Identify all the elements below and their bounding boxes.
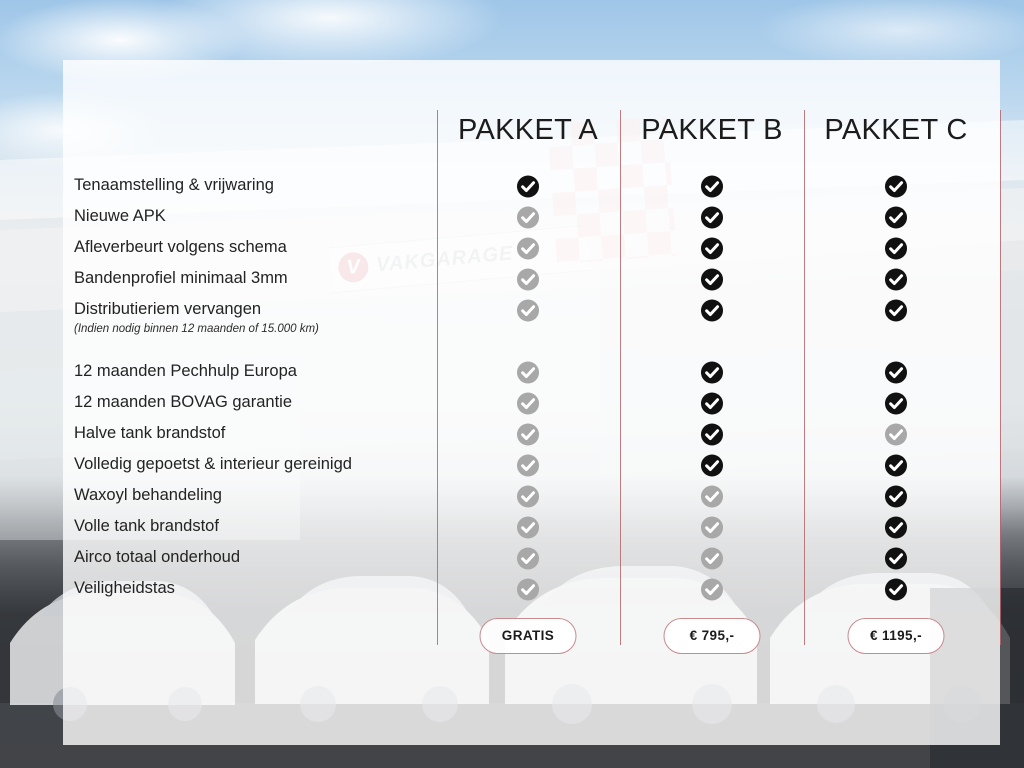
check-active-c	[885, 454, 908, 477]
feature-label-text: Veiligheidstas	[74, 579, 175, 597]
feature-label-text: Bandenprofiel minimaal 3mm	[74, 269, 288, 287]
check-inactive-a	[517, 361, 540, 384]
check-inactive-c	[885, 423, 908, 446]
check-active-c	[885, 361, 908, 384]
feature-label: Halve tank brandstof	[74, 425, 225, 442]
check-active-c	[885, 516, 908, 539]
check-active-c	[885, 175, 908, 198]
feature-label: Nieuwe APK	[74, 208, 166, 225]
column-header-a: PAKKET A	[458, 114, 598, 147]
feature-label-text: Volle tank brandstof	[74, 517, 219, 535]
column-divider-4	[1000, 110, 1001, 645]
column-divider-3	[804, 110, 805, 645]
column-divider-1	[437, 110, 438, 645]
check-inactive-b	[701, 485, 724, 508]
feature-label: Volledig gepoetst & interieur gereinigd	[74, 456, 352, 473]
check-inactive-b	[701, 547, 724, 570]
check-inactive-b	[701, 578, 724, 601]
feature-label-text: 12 maanden Pechhulp Europa	[74, 362, 297, 380]
feature-label-text: Waxoyl behandeling	[74, 486, 222, 504]
feature-label: 12 maanden Pechhulp Europa	[74, 363, 297, 380]
feature-label: Bandenprofiel minimaal 3mm	[74, 270, 288, 287]
feature-label-text: Tenaamstelling & vrijwaring	[74, 176, 274, 194]
check-inactive-a	[517, 237, 540, 260]
feature-label-text: Distributieriem vervangen	[74, 300, 261, 318]
check-active-b	[701, 299, 724, 322]
price-badge-a[interactable]: GRATIS	[480, 618, 577, 654]
check-active-c	[885, 237, 908, 260]
feature-label-text: 12 maanden BOVAG garantie	[74, 393, 292, 411]
check-inactive-b	[701, 516, 724, 539]
package-comparison-card: PAKKET APAKKET BPAKKET CTenaamstelling &…	[63, 60, 1000, 745]
feature-label-text: Afleverbeurt volgens schema	[74, 238, 287, 256]
feature-label: Distributieriem vervangen(Indien nodig b…	[74, 301, 319, 335]
check-active-b	[701, 206, 724, 229]
check-active-c	[885, 392, 908, 415]
check-inactive-a	[517, 578, 540, 601]
feature-label-text: Volledig gepoetst & interieur gereinigd	[74, 455, 352, 473]
check-active-b	[701, 361, 724, 384]
check-inactive-a	[517, 206, 540, 229]
check-active-b	[701, 392, 724, 415]
package-comparison-table: PAKKET APAKKET BPAKKET CTenaamstelling &…	[63, 60, 1000, 745]
check-inactive-a	[517, 423, 540, 446]
feature-label-text: Airco totaal onderhoud	[74, 548, 240, 566]
feature-label: Tenaamstelling & vrijwaring	[74, 177, 274, 194]
check-active-b	[701, 268, 724, 291]
feature-label-text: Nieuwe APK	[74, 207, 166, 225]
feature-label: Waxoyl behandeling	[74, 487, 222, 504]
check-inactive-a	[517, 485, 540, 508]
feature-label-text: Halve tank brandstof	[74, 424, 225, 442]
column-header-c: PAKKET C	[824, 114, 967, 147]
check-active-c	[885, 578, 908, 601]
check-active-b	[701, 175, 724, 198]
price-badge-b[interactable]: € 795,-	[664, 618, 761, 654]
check-active-a	[517, 175, 540, 198]
check-active-b	[701, 237, 724, 260]
column-divider-2	[620, 110, 621, 645]
check-active-c	[885, 206, 908, 229]
feature-label: Veiligheidstas	[74, 580, 175, 597]
feature-label: Afleverbeurt volgens schema	[74, 239, 287, 256]
check-inactive-a	[517, 299, 540, 322]
check-inactive-a	[517, 547, 540, 570]
price-badge-c[interactable]: € 1195,-	[848, 618, 945, 654]
check-inactive-a	[517, 392, 540, 415]
check-inactive-a	[517, 268, 540, 291]
check-active-c	[885, 299, 908, 322]
check-active-c	[885, 268, 908, 291]
check-inactive-a	[517, 516, 540, 539]
feature-label: Airco totaal onderhoud	[74, 549, 240, 566]
column-header-b: PAKKET B	[641, 114, 783, 147]
check-active-c	[885, 485, 908, 508]
check-active-b	[701, 454, 724, 477]
feature-label: 12 maanden BOVAG garantie	[74, 394, 292, 411]
feature-sublabel-text: (Indien nodig binnen 12 maanden of 15.00…	[74, 324, 319, 336]
check-active-b	[701, 423, 724, 446]
check-active-c	[885, 547, 908, 570]
check-inactive-a	[517, 454, 540, 477]
feature-label: Volle tank brandstof	[74, 518, 219, 535]
